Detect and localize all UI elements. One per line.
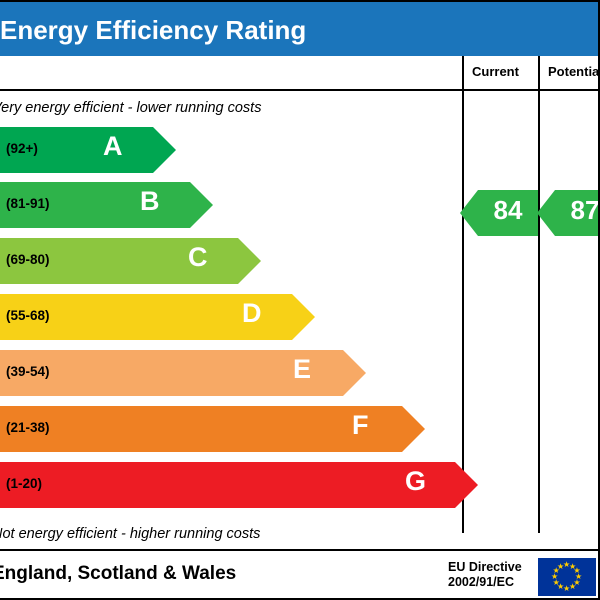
footer-region-label: England, Scotland & Wales [0,563,236,585]
band-bar-c: (69-80) C [0,238,238,284]
eu-star-icon: ★ [557,563,564,571]
band-letter-b: B [140,186,160,217]
band-arrow-g [455,462,478,508]
band-bar-b: (81-91) B [0,182,190,228]
band-letter-g: G [405,466,426,497]
band-letter-a: A [103,131,123,162]
band-bar-f: (21-38) F [0,406,402,452]
footer-directive: EU Directive 2002/91/EC [448,560,522,590]
current-rating-pointer: 84 [478,190,538,236]
band-range-a: (92+) [6,141,38,156]
footer-divider [0,549,598,551]
band-range-f: (21-38) [6,420,50,435]
band-arrow-c [238,238,261,284]
epc-certificate-chart: Energy Efficiency Rating Current Potenti… [0,0,600,600]
eu-flag-icon: ★★★★★★★★★★★★ [538,558,596,596]
band-range-c: (69-80) [6,252,50,267]
page-title: Energy Efficiency Rating [0,15,306,46]
current-rating-value: 84 [478,195,538,226]
band-bar-g: (1-20) G [0,462,455,508]
column-header-potential: Potential [548,64,600,79]
footer-directive-line1: EU Directive [448,560,522,575]
current-pointer-tip [460,190,478,236]
column-header-current: Current [472,64,519,79]
band-letter-d: D [242,298,262,329]
band-arrow-a [153,127,176,173]
band-arrow-b [190,182,213,228]
band-arrow-f [402,406,425,452]
band-range-e: (39-54) [6,364,50,379]
band-bar-d: (55-68) D [0,294,292,340]
band-arrow-d [292,294,315,340]
potential-rating-pointer: 87 [555,190,600,236]
caption-inefficient: Not energy efficient - higher running co… [0,526,260,542]
column-divider-potential [538,56,540,533]
band-letter-f: F [352,410,369,441]
band-bar-a: (92+) A [0,127,153,173]
band-letter-c: C [188,242,208,273]
potential-rating-value: 87 [555,195,600,226]
band-bar-e: (39-54) E [0,350,343,396]
band-range-g: (1-20) [6,476,42,491]
caption-efficient: Very energy efficient - lower running co… [0,100,261,116]
footer-directive-line2: 2002/91/EC [448,575,522,590]
band-range-b: (81-91) [6,196,50,211]
potential-pointer-tip [537,190,555,236]
band-letter-e: E [293,354,311,385]
band-arrow-e [343,350,366,396]
band-range-d: (55-68) [6,308,50,323]
